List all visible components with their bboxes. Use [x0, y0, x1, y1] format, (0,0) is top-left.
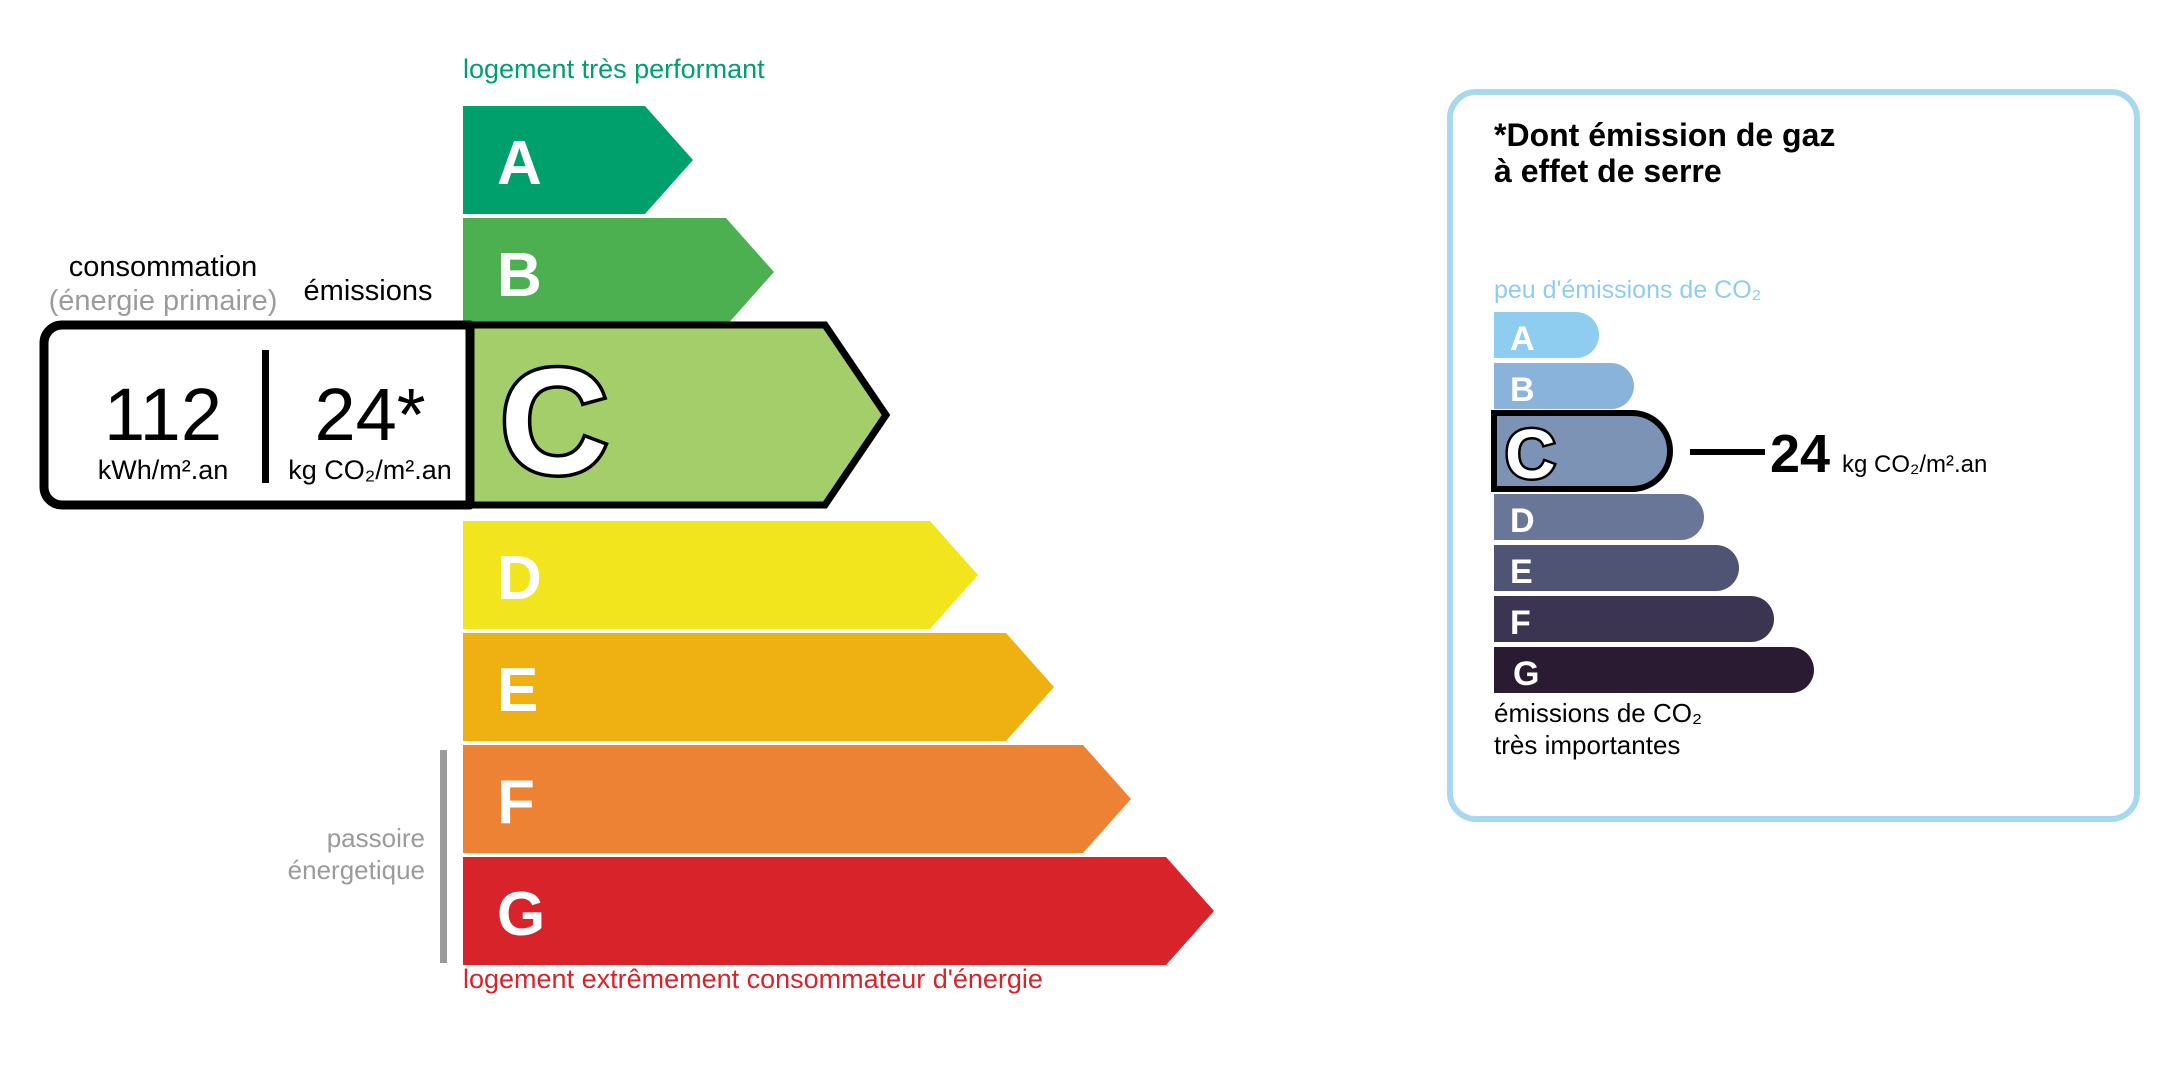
ges-value: 24*	[314, 373, 425, 456]
ges-scale-bottom-label-line2: très importantes	[1494, 730, 1680, 760]
energy-value: 112	[104, 373, 222, 456]
passoire-label-line2: énergetique	[288, 855, 425, 885]
energy-band-f-shape	[463, 745, 1131, 853]
ges-band-e[interactable]: E	[1494, 545, 1739, 591]
energy-band-b[interactable]: B	[463, 218, 774, 326]
ges-band-b[interactable]: B	[1494, 363, 1634, 409]
ges-unit: kg CO₂/m².an	[288, 455, 452, 485]
ges-band-d[interactable]: D	[1494, 494, 1704, 540]
emissions-label: émissions	[304, 275, 433, 307]
energy-band-e[interactable]: E	[463, 633, 1054, 741]
energy-band-a[interactable]: A	[463, 106, 693, 214]
ges-callout-value: 24	[1770, 424, 1830, 484]
energy-band-d-letter: D	[497, 544, 542, 613]
dpe-diagram: logement très performant A B C D	[0, 0, 2169, 1079]
ges-band-g[interactable]: G	[1494, 647, 1814, 693]
energy-band-b-letter: B	[497, 241, 542, 310]
energy-band-g-letter: G	[497, 880, 545, 949]
ges-band-f-letter: F	[1510, 604, 1531, 642]
ges-panel-title-line1: *Dont émission de gaz	[1494, 117, 1835, 153]
energy-band-c-letter: C	[500, 337, 608, 505]
ges-band-d-letter: D	[1510, 502, 1535, 540]
ges-panel-group: *Dont émission de gaz à effet de serre p…	[1450, 92, 2137, 819]
ges-band-e-letter: E	[1510, 553, 1533, 591]
energy-band-g[interactable]: G	[463, 857, 1214, 965]
consumption-box-divider	[262, 350, 269, 483]
ges-band-g-letter: G	[1513, 655, 1539, 693]
consumption-box: consommation (énergie primaire) émission…	[44, 251, 470, 505]
ges-band-a-letter: A	[1510, 320, 1535, 358]
energy-band-e-letter: E	[497, 656, 538, 725]
energy-unit: kWh/m².an	[98, 455, 229, 485]
energy-band-d[interactable]: D	[463, 521, 978, 629]
consumption-label-line2: (énergie primaire)	[49, 285, 278, 317]
energy-scale-top-label: logement très performant	[463, 54, 765, 84]
energy-band-g-shape	[463, 857, 1214, 965]
ges-scale-bottom-label-line1: émissions de CO₂	[1494, 698, 1702, 728]
ges-scale-top-label: peu d'émissions de CO₂	[1494, 276, 1761, 304]
passoire-label-line1: passoire	[327, 823, 425, 853]
ges-band-b-letter: B	[1510, 371, 1535, 409]
energy-scale-bottom-label: logement extrêmement consommateur d'éner…	[463, 964, 1043, 994]
energy-band-a-letter: A	[497, 129, 542, 198]
dpe-svg-canvas: logement très performant A B C D	[0, 0, 2169, 1079]
energy-band-e-shape	[463, 633, 1054, 741]
energy-band-c[interactable]: C	[463, 325, 886, 505]
ges-band-f[interactable]: F	[1494, 596, 1774, 642]
ges-panel-title-line2: à effet de serre	[1494, 153, 1722, 189]
energy-band-f-letter: F	[497, 768, 535, 837]
energy-band-f[interactable]: F	[463, 745, 1131, 853]
passoire-bracket-line	[440, 750, 447, 963]
ges-band-g-shape	[1494, 647, 1814, 693]
energy-scale-group: logement très performant A B C D	[44, 54, 1214, 994]
ges-band-a[interactable]: A	[1494, 312, 1599, 358]
ges-band-c-letter: C	[1505, 415, 1556, 493]
ges-callout-unit: kg CO₂/m².an	[1842, 451, 1987, 478]
ges-band-f-shape	[1494, 596, 1774, 642]
consumption-label-line1: consommation	[69, 251, 258, 283]
